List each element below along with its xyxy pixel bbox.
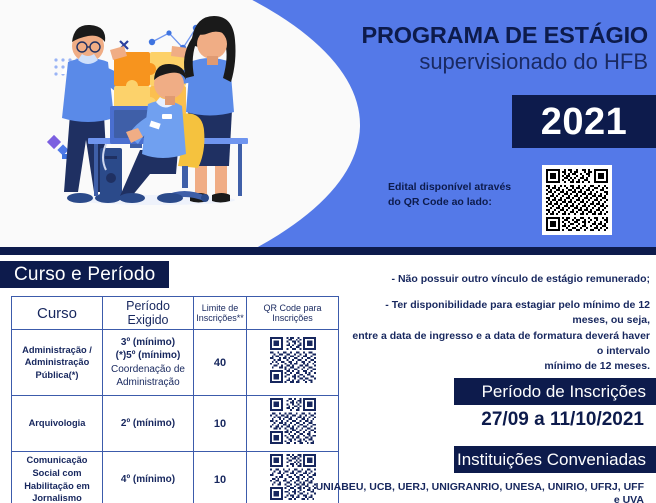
period-line3: Coordenação de [105, 363, 191, 377]
table-row: Administração / Administração Pública(*)… [12, 330, 339, 396]
requisite-item-2-line2: entre a data de ingresso e a data de for… [352, 329, 650, 359]
cell-course-name: Comunicação Social com Habilitação em Jo… [12, 452, 103, 503]
requisite-item-2-line1: - Ter disponibilidade para estagiar pelo… [352, 298, 650, 328]
navy-divider-strip [0, 247, 656, 255]
qr-code-icon [270, 398, 316, 444]
col-header-limite-l1: Limite de [196, 303, 244, 313]
course-line1: Comunicação [14, 454, 100, 467]
requisite-item-1: - Não possuir outro vínculo de estágio r… [352, 272, 650, 287]
top-banner: PROGRAMA DE ESTÁGIO supervisionado do HF… [0, 0, 656, 247]
col-header-qrcode: QR Code para Inscrições [247, 297, 339, 330]
col-header-curso: Curso [12, 297, 103, 330]
cell-course-qrcode[interactable] [247, 396, 339, 452]
col-header-qrcode-l2: Inscrições [249, 313, 336, 323]
cell-course-name: Arquivologia [12, 396, 103, 452]
period-line2: (*)5º (mínimo) [116, 350, 181, 361]
course-line3: Habilitação em [14, 480, 100, 493]
cell-course-qrcode[interactable] [247, 330, 339, 396]
courses-table-body: Administração / Administração Pública(*)… [12, 330, 339, 503]
enrollment-period-band: Período de Inscrições [454, 378, 656, 405]
table-row: Comunicação Social com Habilitação em Jo… [12, 452, 339, 503]
poster-headline: PROGRAMA DE ESTÁGIO supervisionado do HF… [352, 22, 648, 76]
cell-course-limit: 40 [194, 330, 247, 396]
year-value: 2021 [541, 103, 628, 141]
year-badge: 2021 [512, 95, 656, 148]
qr-code-icon [270, 454, 316, 500]
edital-qr-code[interactable] [542, 165, 612, 235]
cell-course-period: 3º (mínimo) (*)5º (mínimo) Coordenação d… [103, 330, 194, 396]
teamwork-illustration [22, 10, 292, 238]
course-line3: Pública(*) [14, 369, 100, 382]
cell-course-name: Administração / Administração Pública(*) [12, 330, 103, 396]
section-title-curso-periodo: Curso e Período [0, 261, 169, 288]
col-header-limite: Limite de Inscrições** [194, 297, 247, 330]
edital-note: Edital disponível através do QR Code ao … [388, 180, 528, 210]
edital-note-line2: do QR Code ao lado: [388, 195, 528, 210]
cell-course-period: 2º (mínimo) [103, 396, 194, 452]
headline-line1: PROGRAMA DE ESTÁGIO [352, 22, 648, 48]
section-title-label: Curso e Período [14, 265, 155, 284]
cell-course-limit: 10 [194, 452, 247, 503]
qr-code-icon [270, 337, 316, 383]
cell-course-period: 4º (mínimo) [103, 452, 194, 503]
course-line4: Jornalismo [14, 492, 100, 503]
period-line1: 3º (mínimo) [121, 337, 175, 348]
requisite-item-2: - Ter disponibilidade para estagiar pelo… [352, 298, 650, 374]
institutions-label: Instituições Conveniadas [457, 451, 646, 468]
col-header-periodo: Período Exigido [103, 297, 194, 330]
institutions-list: UNIABEU, UCB, UERJ, UNIGRANRIO, UNESA, U… [312, 481, 650, 503]
enrollment-period-label: Período de Inscrições [482, 383, 646, 400]
courses-table-head: Curso Período Exigido Limite de Inscriçõ… [12, 297, 339, 330]
requisite-item-2-line3: mínimo de 12 meses. [352, 359, 650, 374]
course-line2: Social com [14, 467, 100, 480]
course-line1: Administração / [14, 344, 100, 357]
qr-code-icon [544, 167, 610, 233]
col-header-qrcode-l1: QR Code para [249, 303, 336, 313]
poster-root: PROGRAMA DE ESTÁGIO supervisionado do HF… [0, 0, 656, 503]
cell-course-limit: 10 [194, 396, 247, 452]
enrollment-dates: 27/09 a 11/10/2021 [352, 410, 650, 429]
requisites-block: - Não possuir outro vínculo de estágio r… [352, 272, 650, 374]
headline-line2: supervisionado do HFB [352, 49, 648, 75]
table-header-row: Curso Período Exigido Limite de Inscriçõ… [12, 297, 339, 330]
table-row: Arquivologia 2º (mínimo) 10 [12, 396, 339, 452]
col-header-limite-l2: Inscrições** [196, 313, 244, 323]
period-line1: 4º (mínimo) [121, 474, 175, 485]
edital-note-line1: Edital disponível através [388, 180, 528, 195]
period-line4: Administração [105, 376, 191, 390]
course-line2: Administração [14, 356, 100, 369]
institutions-band: Instituições Conveniadas [454, 446, 656, 473]
courses-table: Curso Período Exigido Limite de Inscriçõ… [11, 296, 339, 503]
period-line1: 2º (mínimo) [121, 418, 175, 429]
